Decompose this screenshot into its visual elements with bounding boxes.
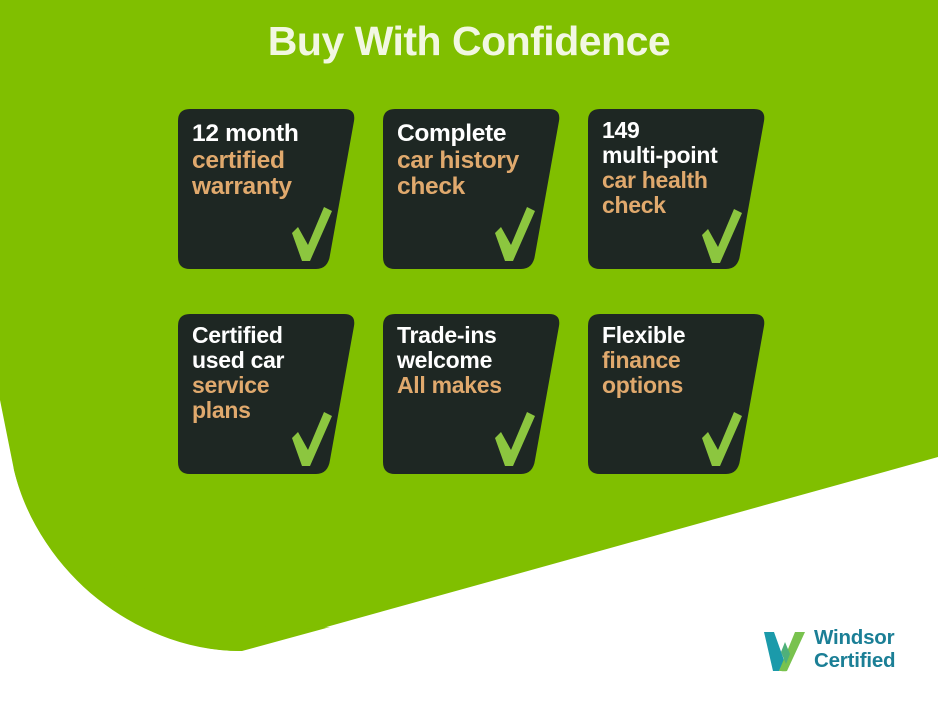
feature-card-grid: 12 month certified warranty Complete car… <box>178 109 758 497</box>
card-line-tan: check <box>602 193 752 218</box>
windsor-certified-logo[interactable]: Windsor Certified <box>762 626 922 682</box>
card-text: Complete car history check <box>397 121 547 201</box>
card-line-white: 149 <box>602 118 752 143</box>
card-line-tan: certified <box>192 148 342 175</box>
card-line-white: Certified <box>192 323 342 348</box>
card-line-tan: service <box>192 373 342 398</box>
card-row-bottom: Certified used car service plans Trade-i… <box>178 303 758 497</box>
card-line-white: multi-point <box>602 143 752 168</box>
card-text: 149 multi-point car health check <box>602 118 752 218</box>
feature-card-certified-warranty[interactable]: 12 month certified warranty <box>178 109 361 269</box>
card-line-white: welcome <box>397 348 547 373</box>
promotional-banner: Buy With Confidence 12 month certified w… <box>0 0 938 704</box>
card-line-tan: car history <box>397 148 547 175</box>
feature-card-service-plans[interactable]: Certified used car service plans <box>178 314 361 474</box>
feature-card-flexible-finance[interactable]: Flexible finance options <box>588 314 771 474</box>
card-line-white: Trade-ins <box>397 323 547 348</box>
card-line-white: 12 month <box>192 121 342 148</box>
card-line-tan: car health <box>602 168 752 193</box>
card-line-tan: plans <box>192 398 342 423</box>
logo-wordmark: Windsor Certified <box>814 626 895 673</box>
card-line-tan: warranty <box>192 174 342 201</box>
card-line-tan: All makes <box>397 373 547 398</box>
card-line-tan: check <box>397 174 547 201</box>
card-text: Certified used car service plans <box>192 323 342 423</box>
feature-card-multi-point-health-check[interactable]: 149 multi-point car health check <box>588 109 771 269</box>
page-title: Buy With Confidence <box>0 18 938 65</box>
card-line-white: Complete <box>397 121 547 148</box>
card-row-top: 12 month certified warranty Complete car… <box>178 109 758 303</box>
card-text: 12 month certified warranty <box>192 121 342 201</box>
feature-card-trade-ins[interactable]: Trade-ins welcome All makes <box>383 314 566 474</box>
card-text: Flexible finance options <box>602 323 752 398</box>
card-line-tan: options <box>602 373 752 398</box>
card-line-white: Flexible <box>602 323 752 348</box>
card-text: Trade-ins welcome All makes <box>397 323 547 398</box>
card-line-white: used car <box>192 348 342 373</box>
feature-card-car-history-check[interactable]: Complete car history check <box>383 109 566 269</box>
windsor-w-logo-icon <box>762 630 808 672</box>
card-line-tan: finance <box>602 348 752 373</box>
logo-line-certified: Certified <box>814 649 895 672</box>
logo-line-windsor: Windsor <box>814 626 895 649</box>
